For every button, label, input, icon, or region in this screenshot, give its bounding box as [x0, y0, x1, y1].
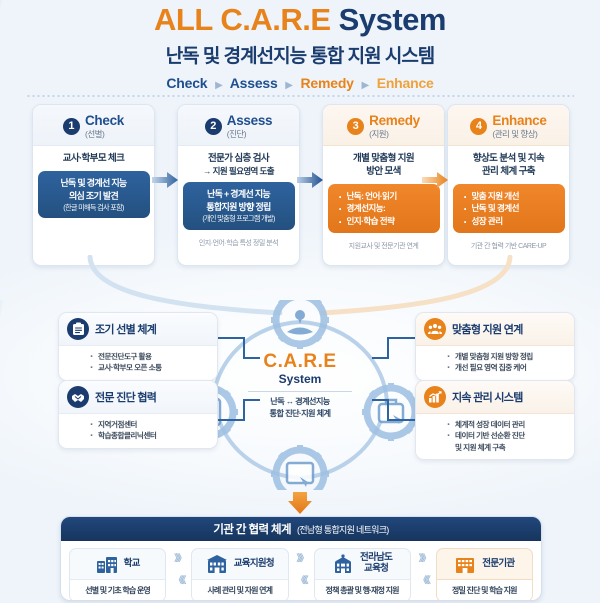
card-lead-line: 전문가 심층 검사 — [203, 153, 274, 166]
panel-item: 전문진단도구 활용 — [89, 351, 211, 362]
institution-card-provincial-office[interactable]: 전라남도 교육청 정책 총괄 및 행·재정 지원 — [314, 548, 411, 601]
panel-item: 데이터 기반 선순환 진단 — [446, 430, 568, 441]
people-icon — [424, 318, 446, 340]
step-number-badge: 1 — [63, 118, 80, 135]
clipboard-icon — [67, 318, 89, 340]
step-label-check: Check — [166, 75, 207, 91]
panel-title: 조기 선별 체계 — [95, 321, 156, 337]
institution-desc-wrap: 정밀 진단 및 학습 지원 — [437, 579, 532, 601]
panel-header: 조기 선별 체계 — [59, 313, 217, 346]
pill-bullet: 난독 및 경계선 — [464, 202, 562, 214]
panel-expert-diagnosis[interactable]: 전문 진단 협력 지역거점센터 학습종합클리닉센터 — [58, 380, 218, 449]
chevron-right-icon: ▶ — [357, 80, 373, 91]
office-building-icon — [206, 554, 228, 574]
hub-subtitle-line1: 난독 ↔ 경계선지능 — [231, 396, 369, 408]
pill-note: (한글 미해득 검사 포함) — [41, 203, 147, 212]
panel-item: 개선 필요 영역 집중 케어 — [446, 362, 568, 373]
chevron-forward-icon: 》》》 — [296, 551, 305, 564]
panel-body: 개별 맞춤형 지원 방향 정립 개선 필요 영역 집중 케어 — [416, 346, 574, 380]
card-footnote: 인지·언어·학습 특성 정밀 분석 — [199, 238, 278, 248]
step-number-badge: 4 — [470, 118, 487, 135]
card-lead-subline: 관리 체계 구축 — [473, 166, 544, 179]
card-title-ko: (진단) — [227, 130, 273, 139]
institution-head: 학교 — [70, 549, 165, 579]
card-pill: 난독 및 경계선 지능 의심 조기 발견 (한글 미해득 검사 포함) — [38, 171, 150, 218]
institution-network-subtitle: (전남형 통합지원 네트워크) — [297, 523, 389, 536]
institution-network-header: 기관 간 협력 체계 (전남형 통합지원 네트워크) — [61, 517, 541, 541]
card-body: 향상도 분석 및 지속 관리 체계 구축 맞춤 지원 개선 난독 및 경계선 성… — [448, 146, 569, 255]
institution-name-line2: 교육청 — [360, 564, 392, 575]
card-lead: 향상도 분석 및 지속 관리 체계 구축 — [473, 153, 544, 179]
pill-bullet-cont: 인지·학습 전략 — [339, 215, 437, 227]
card-title-ko: (지원) — [369, 130, 420, 139]
panel-item: 개별 맞춤형 지원 방향 정립 — [446, 351, 568, 362]
card-lead-line: 개별 맞춤형 지원 — [353, 153, 414, 166]
card-header: 1 Check (선별) — [33, 105, 154, 146]
institution-desc-wrap: 선별 및 기초 학습 운영 — [70, 579, 165, 601]
pill-line: 의심 조기 발견 — [41, 190, 147, 203]
card-pill: 난독 + 경계선 지능 통합지원 방향 정립 (개인 맞춤형 프로그램 개발) — [183, 182, 295, 229]
institution-network-title: 기관 간 협력 체계 — [213, 521, 291, 537]
pill-bullet: 맞춤 지원 개선 — [464, 190, 562, 202]
arrow-right-icon — [297, 172, 323, 188]
card-body: 전문가 심층 검사 → 지원 필요영역 도출 난독 + 경계선 지능 통합지원 … — [178, 146, 299, 252]
chevron-forward-icon: 》》》 — [174, 551, 183, 564]
title-blue: System — [339, 2, 446, 37]
card-lead: 전문가 심층 검사 → 지원 필요영역 도출 — [203, 153, 274, 177]
institution-desc-wrap: 정책 총괄 및 행·재정 지원 — [315, 579, 410, 601]
institution-desc: 선별 및 기초 학습 운영 — [85, 585, 150, 596]
hub-subtitle-line2: 통합 진단·지원 체계 — [231, 408, 369, 420]
card-title-en: Enhance — [492, 114, 546, 128]
handshake-icon — [67, 386, 89, 408]
step-label-enhance: Enhance — [377, 75, 434, 91]
header: ALL C.A.R.E System 난독 및 경계선지능 통합 지원 시스템 … — [0, 4, 600, 91]
page-title: ALL C.A.R.E System — [0, 4, 600, 37]
card-lead-subline: 방안 모색 — [353, 166, 414, 179]
panel-header: 전문 진단 협력 — [59, 381, 217, 414]
panel-early-screening[interactable]: 조기 선별 체계 전문진단도구 활용 교사·학부모 오픈 소통 — [58, 312, 218, 381]
title-orange: ALL C.A.R.E — [154, 2, 331, 37]
page-subtitle: 난독 및 경계선지능 통합 지원 시스템 — [0, 41, 600, 68]
arrow-down-icon — [288, 492, 312, 514]
panel-body: 체계적 성장 데이터 관리 데이터 기반 선순환 진단 및 지원 체계 구축 — [416, 414, 574, 459]
arrow-right-icon — [422, 172, 448, 188]
card-header: 3 Remedy (지원) — [323, 105, 444, 146]
card-title-ko: (선별) — [85, 130, 124, 139]
panel-item: 체계적 성장 데이터 관리 — [446, 419, 568, 430]
institution-name: 전라남도 교육청 — [360, 553, 392, 575]
chevron-backward-icon: 《《《 — [296, 573, 305, 586]
pill-line: 난독 및 경계선 지능 — [41, 177, 147, 190]
institution-network: 기관 간 협력 체계 (전남형 통합지원 네트워크) 학교 선별 및 기초 학습… — [60, 516, 542, 601]
panel-item: 학습종합클리닉센터 — [89, 430, 211, 441]
panel-title: 지속 관리 시스템 — [452, 389, 523, 405]
institution-card-specialist-agency[interactable]: 전문기관 정밀 진단 및 학습 지원 — [436, 548, 533, 601]
panel-body: 전문진단도구 활용 교사·학부모 오픈 소통 — [59, 346, 217, 380]
pill-bullet: 난독: 언어·읽기 — [339, 190, 437, 202]
panel-title: 맞춤형 지원 연계 — [452, 321, 523, 337]
arrow-right-icon — [152, 172, 178, 188]
institution-head: 전라남도 교육청 — [315, 549, 410, 579]
chevron-backward-icon: 《《《 — [174, 573, 183, 586]
school-building-icon — [96, 554, 118, 574]
card-pill: 맞춤 지원 개선 난독 및 경계선 성장 관리 — [453, 184, 565, 233]
step-card-assess[interactable]: 2 Assess (진단) 전문가 심층 검사 → 지원 필요영역 도출 난독 … — [177, 104, 300, 266]
care-hub: C.A.R.E System 난독 ↔ 경계선지능 통합 진단·지원 체계 — [185, 300, 415, 490]
panel-body: 지역거점센터 학습종합클리닉센터 — [59, 414, 217, 448]
clinic-building-icon — [454, 554, 476, 574]
institution-desc: 정책 총괄 및 행·재정 지원 — [326, 585, 399, 596]
pill-note: (개인 맞춤형 프로그램 개발) — [186, 214, 292, 223]
card-title-ko: (관리 및 향상) — [492, 130, 546, 139]
card-body: 교사·학부모 체크 난독 및 경계선 지능 의심 조기 발견 (한글 미해득 검… — [33, 146, 154, 222]
pill-bullet: 경계선지능: — [339, 202, 437, 214]
card-lead-line: 향상도 분석 및 지속 — [473, 153, 544, 166]
step-card-check[interactable]: 1 Check (선별) 교사·학부모 체크 난독 및 경계선 지능 의심 조기… — [32, 104, 155, 266]
card-lead: 개별 맞춤형 지원 방안 모색 — [353, 153, 414, 179]
card-header: 2 Assess (진단) — [178, 105, 299, 146]
hub-divider — [248, 391, 352, 392]
panel-title: 전문 진단 협력 — [95, 389, 156, 405]
panel-item: 지역거점센터 — [89, 419, 211, 430]
institution-card-school[interactable]: 학교 선별 및 기초 학습 운영 — [69, 548, 166, 601]
chevron-pair-2: 》》》 《《《 — [289, 548, 314, 586]
card-footnote: 기관 간 협력 기반 CARE-UP — [471, 241, 546, 251]
institution-name: 교육지원청 — [234, 559, 274, 570]
steps-line: Check ▶ Assess ▶ Remedy ▶ Enhance — [0, 75, 600, 91]
panel-item-cont: 및 지원 체계 구축 — [446, 442, 568, 453]
card-footnote: 지원교사 및 전문기관 연계 — [349, 241, 419, 251]
institution-name: 전문기관 — [482, 559, 514, 570]
card-lead-subline: → 지원 필요영역 도출 — [203, 166, 274, 177]
panel-item: 교사·학부모 오픈 소통 — [89, 362, 211, 373]
chevron-pair-3: 》》》 《《《 — [411, 548, 436, 586]
step-cards: 1 Check (선별) 교사·학부모 체크 난독 및 경계선 지능 의심 조기… — [32, 104, 568, 270]
pill-bullet-cont: 성장 관리 — [464, 215, 562, 227]
hub-text: C.A.R.E System 난독 ↔ 경계선지능 통합 진단·지원 체계 — [231, 352, 369, 421]
institution-head: 교육지원청 — [192, 549, 287, 579]
institution-head: 전문기관 — [437, 549, 532, 579]
institution-desc: 정밀 진단 및 학습 지원 — [452, 585, 517, 596]
hub-care-title: C.A.R.E — [231, 352, 369, 371]
panel-tailored-support[interactable]: 맞춤형 지원 연계 개별 맞춤형 지원 방향 정립 개선 필요 영역 집중 케어 — [415, 312, 575, 381]
panel-header: 지속 관리 시스템 — [416, 381, 574, 414]
institution-desc: 사례 관리 및 자원 연계 — [208, 585, 273, 596]
step-number-badge: 2 — [205, 118, 222, 135]
step-card-enhance[interactable]: 4 Enhance (관리 및 향상) 향상도 분석 및 지속 관리 체계 구축… — [447, 104, 570, 266]
chart-up-icon — [424, 386, 446, 408]
card-header: 4 Enhance (관리 및 향상) — [448, 105, 569, 146]
divider-dotted — [26, 95, 574, 97]
chevron-forward-icon: 》》》 — [419, 551, 428, 564]
panel-header: 맞춤형 지원 연계 — [416, 313, 574, 346]
pill-line: 난독 + 경계선 지능 — [186, 188, 292, 201]
step-label-assess: Assess — [230, 75, 278, 91]
middle-section: C.A.R.E System 난독 ↔ 경계선지능 통합 진단·지원 체계 — [0, 300, 600, 500]
hub-system-label: System — [231, 372, 369, 386]
step-number-badge: 3 — [347, 118, 364, 135]
chevron-backward-icon: 《《《 — [419, 573, 428, 586]
institution-card-education-office[interactable]: 교육지원청 사례 관리 및 자원 연계 — [191, 548, 288, 601]
chevron-right-icon: ▶ — [281, 80, 297, 91]
pill-line: 통합지원 방향 정립 — [186, 201, 292, 214]
card-title-en: Check — [85, 114, 124, 128]
institution-list: 학교 선별 및 기초 학습 운영 》》》 《《《 교육지원청 사례 관 — [61, 541, 541, 601]
government-building-icon — [332, 554, 354, 574]
card-lead: 교사·학부모 체크 — [63, 153, 125, 166]
chevron-right-icon: ▶ — [211, 80, 227, 91]
panel-continuous-management[interactable]: 지속 관리 시스템 체계적 성장 데이터 관리 데이터 기반 선순환 진단 및 … — [415, 380, 575, 460]
card-pill: 난독: 언어·읽기 경계선지능: 인지·학습 전략 — [328, 184, 440, 233]
institution-name: 학교 — [124, 559, 140, 570]
card-title-en: Remedy — [369, 114, 420, 128]
chevron-pair-1: 》》》 《《《 — [166, 548, 191, 586]
infographic-root: ALL C.A.R.E System 난독 및 경계선지능 통합 지원 시스템 … — [0, 0, 600, 603]
step-label-remedy: Remedy — [301, 75, 354, 91]
institution-desc-wrap: 사례 관리 및 자원 연계 — [192, 579, 287, 601]
card-title-en: Assess — [227, 114, 273, 128]
card-body: 개별 맞춤형 지원 방안 모색 난독: 언어·읽기 경계선지능: 인지·학습 전… — [323, 146, 444, 255]
